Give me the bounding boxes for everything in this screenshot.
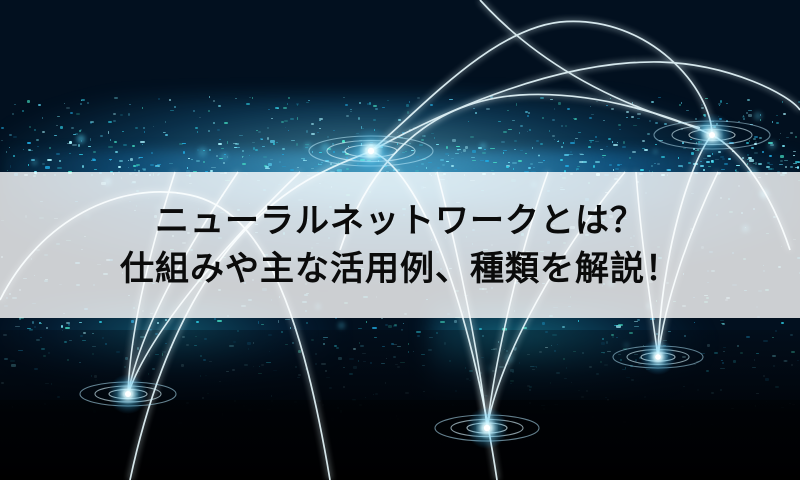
page-title-line-2: 仕組みや主な活用例、種類を解説！ — [120, 247, 680, 291]
node-lower-center — [435, 407, 539, 449]
page-title-line-1: ニューラルネットワークとは？ — [155, 199, 645, 243]
node-lower-left — [80, 374, 176, 414]
node-lower-right — [613, 339, 703, 375]
title-block: ニューラルネットワークとは？ 仕組みや主な活用例、種類を解説！ — [0, 172, 800, 318]
hero-banner: ニューラルネットワークとは？ 仕組みや主な活用例、種類を解説！ — [0, 0, 800, 480]
